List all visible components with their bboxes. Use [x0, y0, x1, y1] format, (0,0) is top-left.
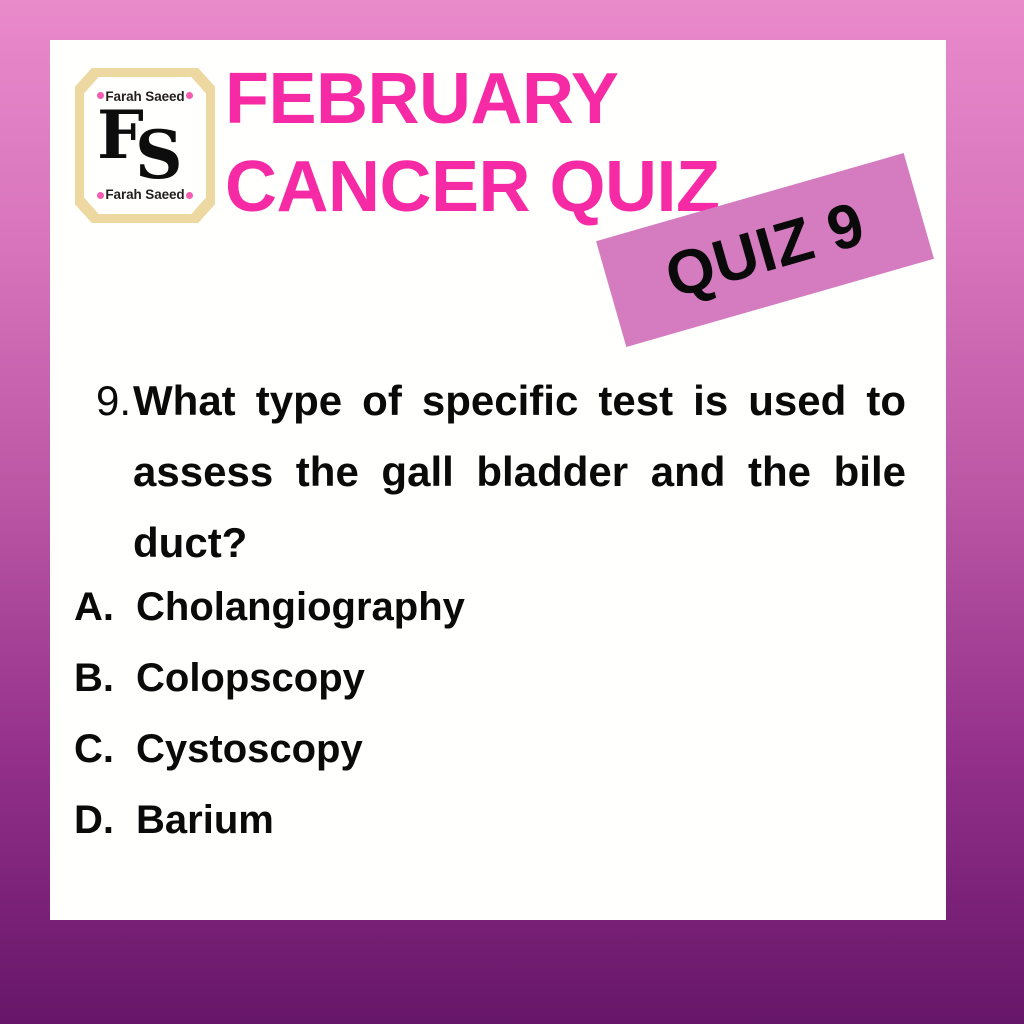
answer-option-label: Colopscopy [136, 656, 914, 701]
poster-header: Farah Saeed F S Farah Saeed FEBRUARY CAN… [50, 40, 946, 340]
question-number: 9. [96, 365, 133, 436]
logo-brand-top: Farah Saeed [75, 89, 215, 104]
answer-option-letter: C. [74, 727, 136, 772]
answer-option[interactable]: A.Cholangiography [74, 585, 914, 656]
question-text: What type of specific test is used to as… [133, 365, 906, 578]
quiz-poster: Farah Saeed F S Farah Saeed FEBRUARY CAN… [0, 0, 1024, 1024]
monogram-letter-s: S [135, 122, 183, 188]
question-block: 9. What type of specific test is used to… [96, 365, 906, 578]
answer-option-letter: D. [74, 798, 136, 843]
answer-option-label: Cholangiography [136, 585, 914, 630]
answer-option-label: Barium [136, 798, 914, 843]
logo-brand-bottom: Farah Saeed [75, 187, 215, 202]
quiz-card: Farah Saeed F S Farah Saeed FEBRUARY CAN… [50, 40, 946, 920]
answer-option-label: Cystoscopy [136, 727, 914, 772]
brand-logo: Farah Saeed F S Farah Saeed [75, 68, 215, 223]
answer-option[interactable]: C.Cystoscopy [74, 727, 914, 798]
answer-option[interactable]: D.Barium [74, 798, 914, 869]
answer-option-letter: A. [74, 585, 136, 630]
answer-option-letter: B. [74, 656, 136, 701]
logo-monogram: F S [75, 106, 215, 186]
answer-options-list: A.CholangiographyB.ColopscopyC.Cystoscop… [74, 585, 914, 869]
answer-option[interactable]: B.Colopscopy [74, 656, 914, 727]
